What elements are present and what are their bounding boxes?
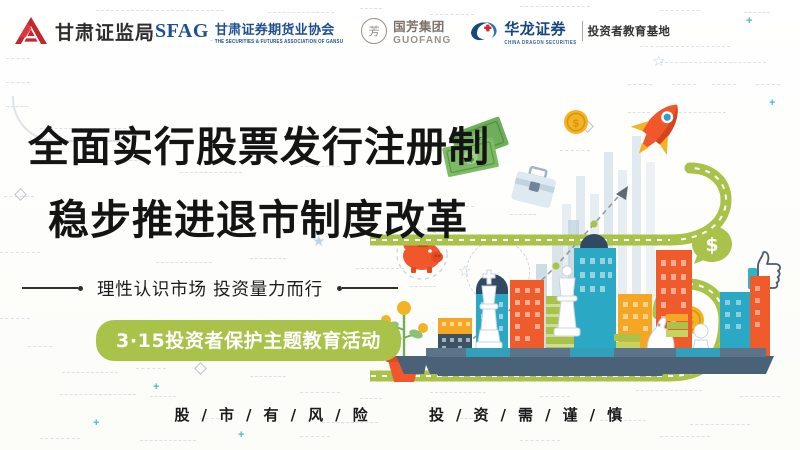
guofang-seal-icon: 芳 [361, 18, 387, 44]
logo-china-dragon-title: 华龙证券 [504, 18, 576, 39]
logo-sfag-subtitle: THE SECURITIES & FUTURES ASSOCIATION OF … [215, 38, 343, 44]
slogan-risk: 股 / 市 / 有 / 风 / 险 [175, 404, 372, 425]
plus-decor-icon: + [153, 382, 159, 393]
diamond-decor-icon [194, 362, 207, 375]
plus-decor-icon: + [238, 430, 244, 441]
subtitle-rule-right [342, 287, 398, 289]
logo-guofang-title: 国芳集团 [393, 16, 451, 35]
logo-china-dragon: 华龙证券 CHINA DRAGON SECURITIES 投资者教育基地 [469, 18, 670, 44]
logo-guofang-subtitle: GUOFANG [393, 35, 451, 46]
briefcase-icon [511, 164, 559, 209]
rocket-icon [621, 90, 695, 167]
logo-guofang: 芳 国芳集团 GUOFANG [361, 16, 451, 46]
gold-coin-icon: $ [564, 110, 588, 134]
diamond-decor-icon [14, 188, 27, 201]
guofang-seal-glyph: 芳 [369, 23, 380, 39]
logo-inner-divider [582, 21, 583, 41]
dragon-wave-icon [469, 20, 499, 42]
subtitle-rule-left [22, 287, 78, 289]
logo-gansu-csrc-title: 甘肃证监局 [55, 18, 155, 45]
logo-sfag: SFAG 甘肃证券期货业协会 THE SECURITIES & FUTURES … [155, 19, 343, 43]
campaign-badge[interactable]: 3·15投资者保护主题教育活动 [96, 320, 401, 361]
slogan-caution: 投 / 资 / 需 / 谨 / 慎 [429, 404, 626, 425]
logo-sfag-abbr: SFAG [155, 20, 209, 43]
logo-gansu-csrc: 甘肃证监局 [14, 16, 155, 46]
svg-text:$: $ [572, 117, 580, 130]
header-logo-bar: 甘肃证监局 SFAG 甘肃证券期货业协会 THE SECURITIES & FU… [0, 0, 800, 62]
headline-secondary: 稳步推进退市制度改革 [48, 186, 468, 246]
headline-primary: 全面实行股票发行注册制 [28, 113, 490, 173]
csrc-triangle-emblem-icon [14, 16, 48, 46]
subtitle-dot-left [78, 286, 83, 291]
subtitle-text: 理性认识市场 投资量力而行 [97, 276, 323, 301]
stacked-books-icon [666, 314, 688, 337]
logo-china-dragon-tagline: 投资者教育基地 [588, 23, 671, 39]
subtitle-row: 理性认识市场 投资量力而行 [22, 274, 482, 302]
logo-china-dragon-subtitle: CHINA DRAGON SECURITIES [504, 39, 576, 46]
footer-slogans: 股 / 市 / 有 / 风 / 险 投 / 资 / 需 / 谨 / 慎 [0, 404, 800, 425]
poster-canvas: + + + + + ☆ ☆ ★ 甘肃证监局 [0, 0, 800, 450]
logo-sfag-title: 甘肃证券期货业协会 [215, 19, 343, 38]
